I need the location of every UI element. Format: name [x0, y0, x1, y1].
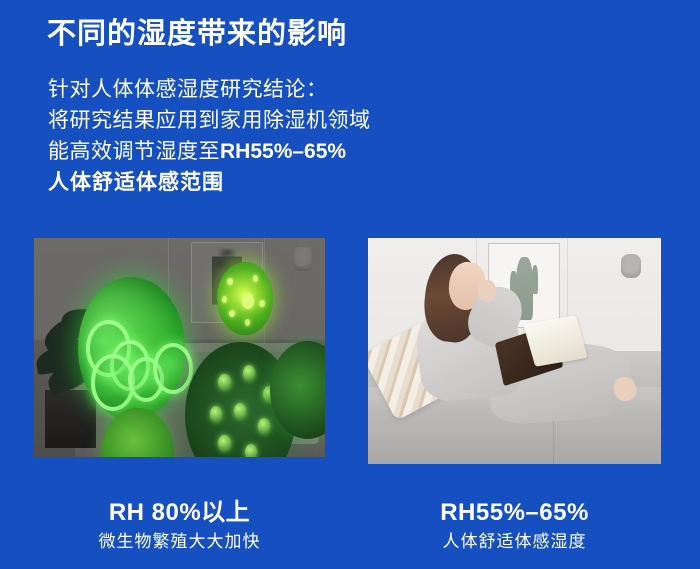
page-title: 不同的湿度带来的影响	[47, 17, 347, 52]
germ-spike-icon	[210, 406, 222, 422]
germ-spike-icon	[245, 319, 251, 326]
bright-living-room-illustration	[368, 238, 661, 464]
germ-sphere-bright-icon	[217, 262, 272, 335]
woman-reading-figure	[409, 254, 632, 453]
germ-spike-icon	[227, 278, 233, 285]
body-line-3-highlight: RH55%–65%	[220, 140, 346, 163]
body-line-1: 针对人体体感湿度研究结论：	[48, 74, 371, 105]
germ-blob-icon	[153, 343, 193, 394]
caption-comfort-humidity: RH55%–65% 人体舒适体感湿度	[368, 498, 661, 555]
germ-spike-icon	[258, 418, 270, 434]
caption-title: RH55%–65%	[368, 498, 661, 528]
germ-spike-icon	[222, 296, 228, 303]
germ-spike-icon	[243, 365, 255, 381]
body-line-3: 能高效调节湿度至RH55%–65%	[48, 136, 371, 167]
germ-sphere-large-icon	[78, 277, 186, 420]
caption-subtitle: 微生物繁殖大大加快	[34, 528, 325, 555]
photo-panel-high-humidity	[34, 238, 325, 457]
caption-title: RH 80%以上	[34, 498, 325, 528]
caption-subtitle: 人体舒适体感湿度	[368, 528, 661, 555]
humidity-comparison-slide: 不同的湿度带来的影响 针对人体体感湿度研究结论： 将研究结果应用到家用除湿机领域…	[0, 0, 700, 569]
germ-spike-icon	[234, 403, 246, 419]
wall-speaker-icon	[293, 247, 313, 271]
body-line-2: 将研究结果应用到家用除湿机领域	[48, 105, 371, 136]
germ-spike-icon	[245, 444, 257, 457]
germ-spike-icon	[259, 300, 265, 307]
body-line-3-text: 能高效调节湿度至	[48, 140, 220, 163]
figure-hand	[478, 280, 496, 302]
body-copy: 针对人体体感湿度研究结论： 将研究结果应用到家用除湿机领域 能高效调节湿度至RH…	[48, 74, 371, 198]
germ-core-icon	[242, 293, 254, 309]
dark-living-room-illustration	[34, 238, 325, 457]
photo-panel-comfort-humidity	[368, 238, 661, 464]
germ-spike-icon	[229, 310, 235, 317]
plant-pot	[45, 390, 96, 448]
germ-spike-icon	[218, 374, 230, 390]
caption-high-humidity: RH 80%以上 微生物繁殖大大加快	[34, 498, 325, 555]
body-line-4: 人体舒适体感范围	[48, 167, 371, 198]
germ-spike-icon	[218, 435, 230, 451]
germ-spike-icon	[253, 275, 259, 282]
